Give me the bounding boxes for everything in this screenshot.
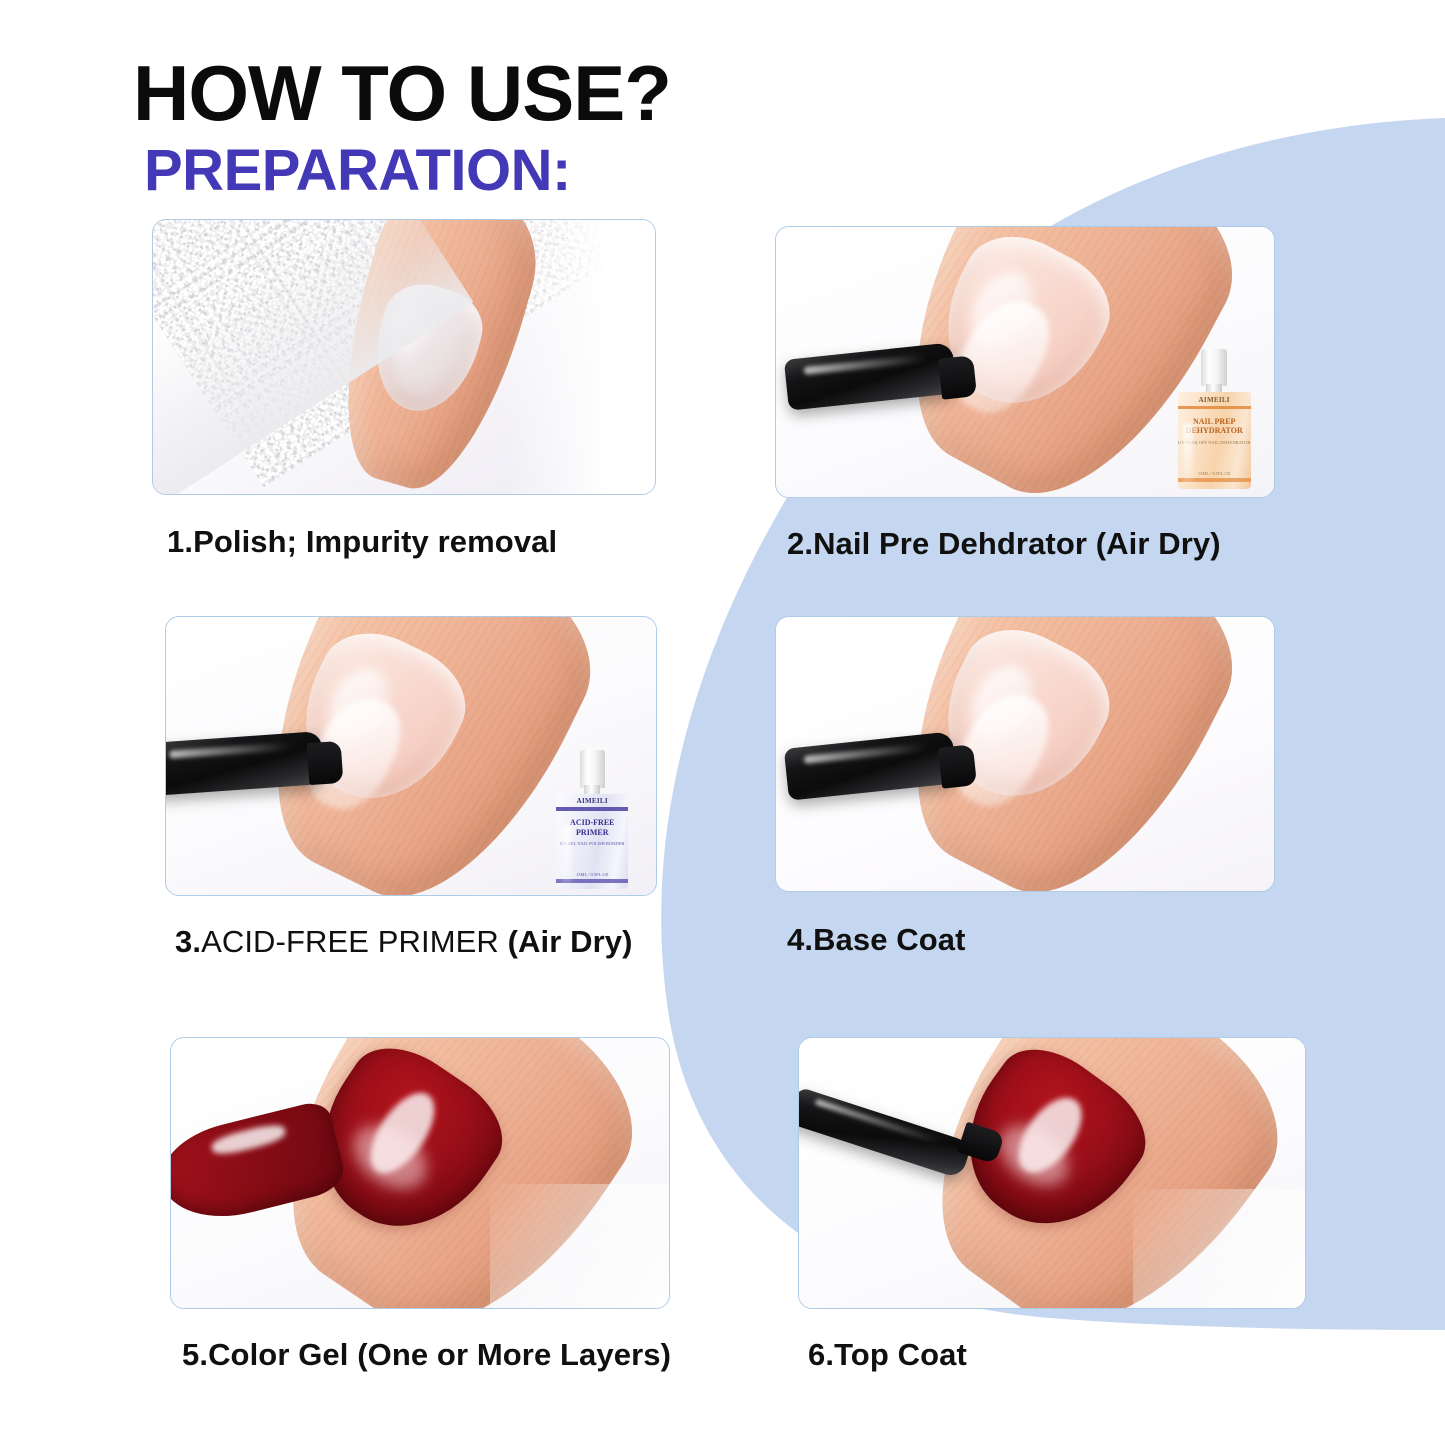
step-3-number: 3. bbox=[175, 924, 201, 959]
step-1-number: 1. bbox=[167, 524, 193, 559]
header-block: HOW TO USE? PREPARATION: bbox=[133, 56, 671, 202]
bottle-brand: AIMEILI bbox=[556, 797, 628, 805]
step-card-6: 6.Top Coat bbox=[798, 1037, 1308, 1407]
step-3-caption: 3.ACID-FREE PRIMER (Air Dry) bbox=[175, 924, 633, 960]
page-subtitle: PREPARATION: bbox=[144, 141, 671, 202]
step-2-number: 2. bbox=[787, 526, 813, 561]
step-card-3: AIMEILI ACID-FREE PRIMER UV GEL NAIL POL… bbox=[165, 616, 675, 986]
bottle-name-line1: NAIL PREP bbox=[1193, 417, 1235, 426]
step-2-image: AIMEILI NAIL PREP DEHYDRATOR UV SOAK OFF… bbox=[775, 226, 1275, 498]
step-card-2: AIMEILI NAIL PREP DEHYDRATOR UV SOAK OFF… bbox=[775, 226, 1285, 586]
bottle-name-line2: DEHYDRATOR bbox=[1186, 426, 1243, 435]
step-6-caption: 6.Top Coat bbox=[808, 1337, 967, 1373]
bottle-name-line2: PRIMER bbox=[576, 828, 608, 837]
step-1-image bbox=[152, 219, 656, 495]
step-card-4: 4.Base Coat bbox=[775, 616, 1285, 986]
step-4-text: Base Coat bbox=[813, 922, 966, 957]
step-3-text-bold: (Air Dry) bbox=[508, 924, 633, 959]
primer-bottle: AIMEILI ACID-FREE PRIMER UV GEL NAIL POL… bbox=[553, 750, 631, 889]
page-title: HOW TO USE? bbox=[133, 56, 671, 131]
step-6-text: Top Coat bbox=[834, 1337, 967, 1372]
bottle-name-line1: ACID-FREE bbox=[570, 818, 614, 827]
step-4-number: 4. bbox=[787, 922, 813, 957]
step-5-caption: 5.Color Gel (One or More Layers) bbox=[182, 1337, 671, 1373]
step-card-5: 5.Color Gel (One or More Layers) bbox=[170, 1037, 690, 1407]
step-2-caption: 2.Nail Pre Dehdrator (Air Dry) bbox=[787, 526, 1221, 562]
step-5-text: Color Gel (One or More Layers) bbox=[208, 1337, 671, 1372]
bottle-brand: AIMEILI bbox=[1178, 396, 1251, 404]
step-6-number: 6. bbox=[808, 1337, 834, 1372]
step-card-1: 1.Polish; Impurity removal bbox=[152, 219, 662, 579]
step-4-caption: 4.Base Coat bbox=[787, 922, 966, 958]
step-5-number: 5. bbox=[182, 1337, 208, 1372]
step-1-caption: 1.Polish; Impurity removal bbox=[167, 524, 557, 560]
step-2-text: Nail Pre Dehdrator (Air Dry) bbox=[813, 526, 1221, 561]
dehydrator-bottle: AIMEILI NAIL PREP DEHYDRATOR UV SOAK OFF… bbox=[1174, 349, 1254, 489]
step-4-image bbox=[775, 616, 1275, 892]
step-5-image bbox=[170, 1037, 670, 1309]
step-3-text: ACID-FREE PRIMER bbox=[201, 924, 508, 959]
step-3-image: AIMEILI ACID-FREE PRIMER UV GEL NAIL POL… bbox=[165, 616, 657, 896]
infographic-page: HOW TO USE? PREPARATION: bbox=[0, 0, 1445, 1445]
step-1-text: Polish; Impurity removal bbox=[193, 524, 557, 559]
step-6-image bbox=[798, 1037, 1306, 1309]
